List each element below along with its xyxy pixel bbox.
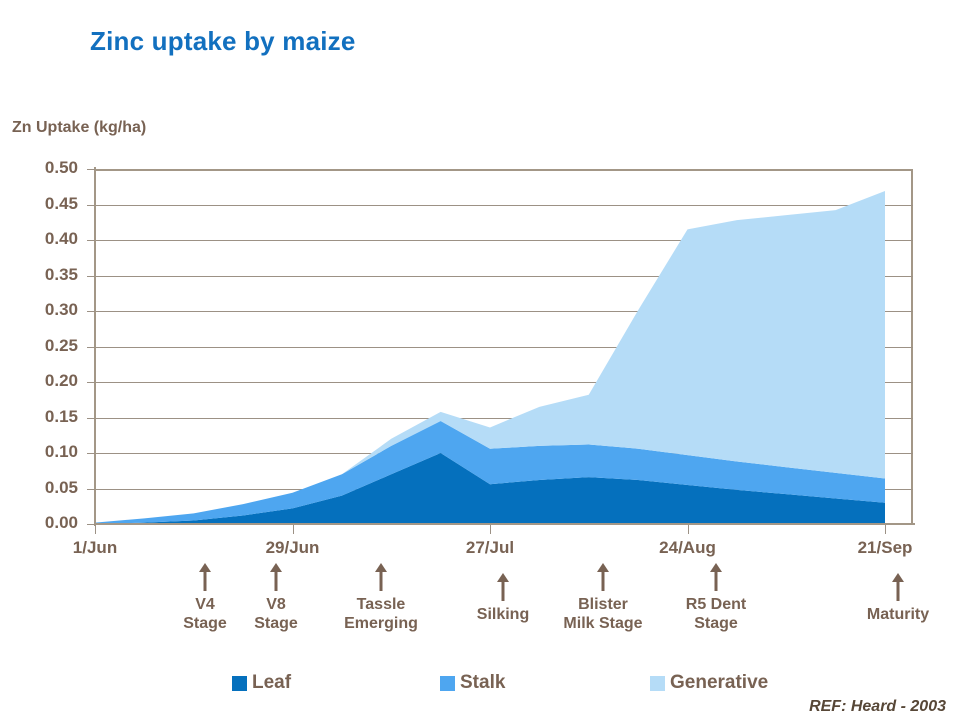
x-axis-tick [885,525,886,534]
y-tick-label: 0.35 [18,265,78,285]
x-axis-tick [490,525,491,534]
legend-item-stalk[interactable]: Stalk [440,672,505,694]
stage-arrow-icon [269,561,283,591]
legend-label: Generative [670,672,768,694]
legend-swatch-icon [440,676,455,691]
chart-plot-area [95,169,913,524]
y-axis-tick-labels: 0.500.450.400.350.300.250.200.150.100.05… [18,0,78,720]
stage-arrow-icon [374,561,388,591]
x-tick-label: 1/Jun [73,538,117,558]
y-tick-label: 0.25 [18,336,78,356]
y-axis-tick [87,418,95,419]
page-title: Zinc uptake by maize [90,26,356,57]
legend-swatch-icon [650,676,665,691]
stage-annotation-label: R5 DentStage [686,596,746,634]
y-axis-tick [87,169,95,170]
y-axis-tick [87,347,95,348]
y-tick-label: 0.20 [18,371,78,391]
stage-annotation-label: BlisterMilk Stage [563,596,642,634]
stage-annotation-label: Maturity [867,606,929,625]
stage-annotation-label: V4Stage [183,596,227,634]
y-axis-tick [87,382,95,383]
y-tick-label: 0.50 [18,158,78,178]
stage-arrow-icon [198,561,212,591]
x-axis-tick [688,525,689,534]
x-axis-tick [293,525,294,534]
stage-arrow-icon [596,561,610,591]
slide-canvas: Zinc uptake by maize Zn Uptake (kg/ha) 0… [0,0,960,720]
y-tick-label: 0.00 [18,513,78,533]
reference-note: REF: Heard - 2003 [809,698,946,716]
stage-annotation-label: V8Stage [254,596,298,634]
stage-arrow-icon [709,561,723,591]
legend-label: Leaf [252,672,291,694]
stage-annotation-label: Silking [477,606,529,625]
legend-label: Stalk [460,672,505,694]
y-tick-label: 0.45 [18,194,78,214]
y-axis-tick [87,205,95,206]
stage-arrow-icon [891,571,905,601]
stage-arrow-icon [496,571,510,601]
y-axis-tick [87,276,95,277]
x-axis-tick [95,525,96,534]
x-tick-label: 27/Jul [466,538,514,558]
y-tick-label: 0.05 [18,478,78,498]
y-axis-tick [87,311,95,312]
legend-swatch-icon [232,676,247,691]
x-tick-label: 24/Aug [659,538,716,558]
stage-annotation-label: TassleEmerging [344,596,418,634]
chart-legend: LeafStalkGenerative [0,672,960,698]
y-axis-tick [87,524,95,525]
x-tick-label: 21/Sep [858,538,913,558]
legend-item-generative[interactable]: Generative [650,672,768,694]
stacked-area-series [95,169,913,524]
y-tick-label: 0.10 [18,442,78,462]
y-axis-tick [87,453,95,454]
x-tick-label: 29/Jun [266,538,320,558]
x-axis-line [94,523,915,525]
legend-item-leaf[interactable]: Leaf [232,672,291,694]
y-axis-tick [87,240,95,241]
y-axis-tick [87,489,95,490]
y-tick-label: 0.30 [18,300,78,320]
y-tick-label: 0.15 [18,407,78,427]
y-tick-label: 0.40 [18,229,78,249]
